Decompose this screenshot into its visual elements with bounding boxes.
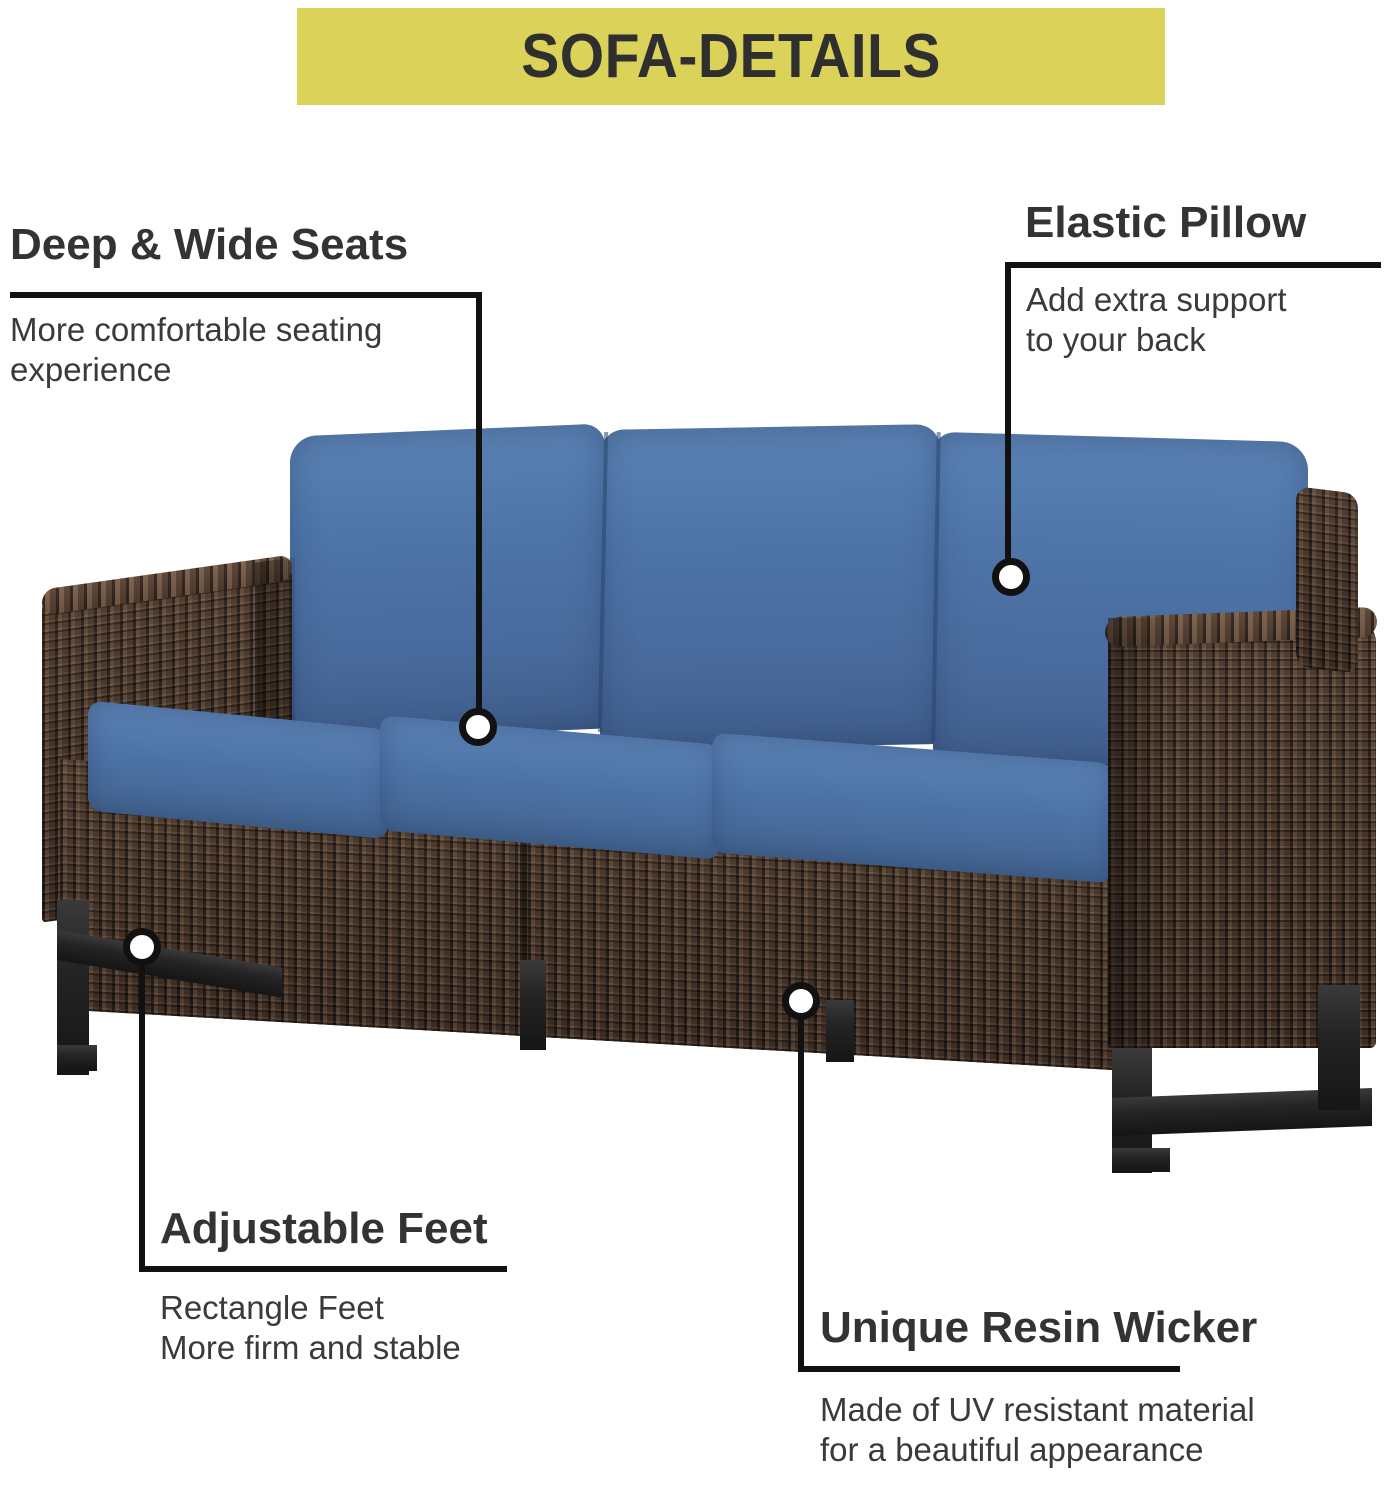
callout-dot-icon-adjustable-feet [123,928,161,966]
callout-dot-icon-unique-resin-wicker [782,982,820,1020]
leader-line-unique-resin-wicker [798,1015,804,1369]
callout-title-elastic-pillow: Elastic Pillow [1025,200,1306,246]
right-back-frame [1296,486,1358,674]
foot-left-bottom [57,1045,97,1071]
foot-right-back [1318,985,1360,1110]
leader-line-adjustable-feet [139,960,145,1270]
foot-middle-rear [826,1000,854,1062]
back-cushion-center [600,424,940,750]
callout-title-adjustable-feet: Adjustable Feet [160,1206,488,1252]
callout-underline-deep-wide-seats [10,292,482,298]
callout-body-unique-resin-wicker: Made of UV resistant material for a beau… [820,1390,1380,1471]
back-cushion-left [290,423,605,741]
callout-body-deep-wide-seats: More comfortable seating experience [10,310,480,391]
leader-line-deep-wide-seats [476,292,482,714]
callout-dot-icon-deep-wide-seats [459,708,497,746]
foot-middle [520,960,546,1050]
callout-underline-adjustable-feet [139,1266,507,1272]
callout-body-adjustable-feet: Rectangle Feet More firm and stable [160,1288,580,1369]
right-armrest-shadow [1108,618,1168,1048]
callout-dot-icon-elastic-pillow [992,558,1030,596]
callout-title-unique-resin-wicker: Unique Resin Wicker [820,1305,1257,1351]
infographic-canvas: SOFA-DETAILS [0,0,1387,1488]
callout-underline-elastic-pillow [1005,262,1381,268]
callout-title-deep-wide-seats: Deep & Wide Seats [10,222,408,268]
callout-body-elastic-pillow: Add extra support to your back [1026,280,1366,361]
leader-line-elastic-pillow [1005,262,1011,568]
foot-right-base [1112,1148,1170,1172]
callout-underline-unique-resin-wicker [798,1366,1180,1372]
